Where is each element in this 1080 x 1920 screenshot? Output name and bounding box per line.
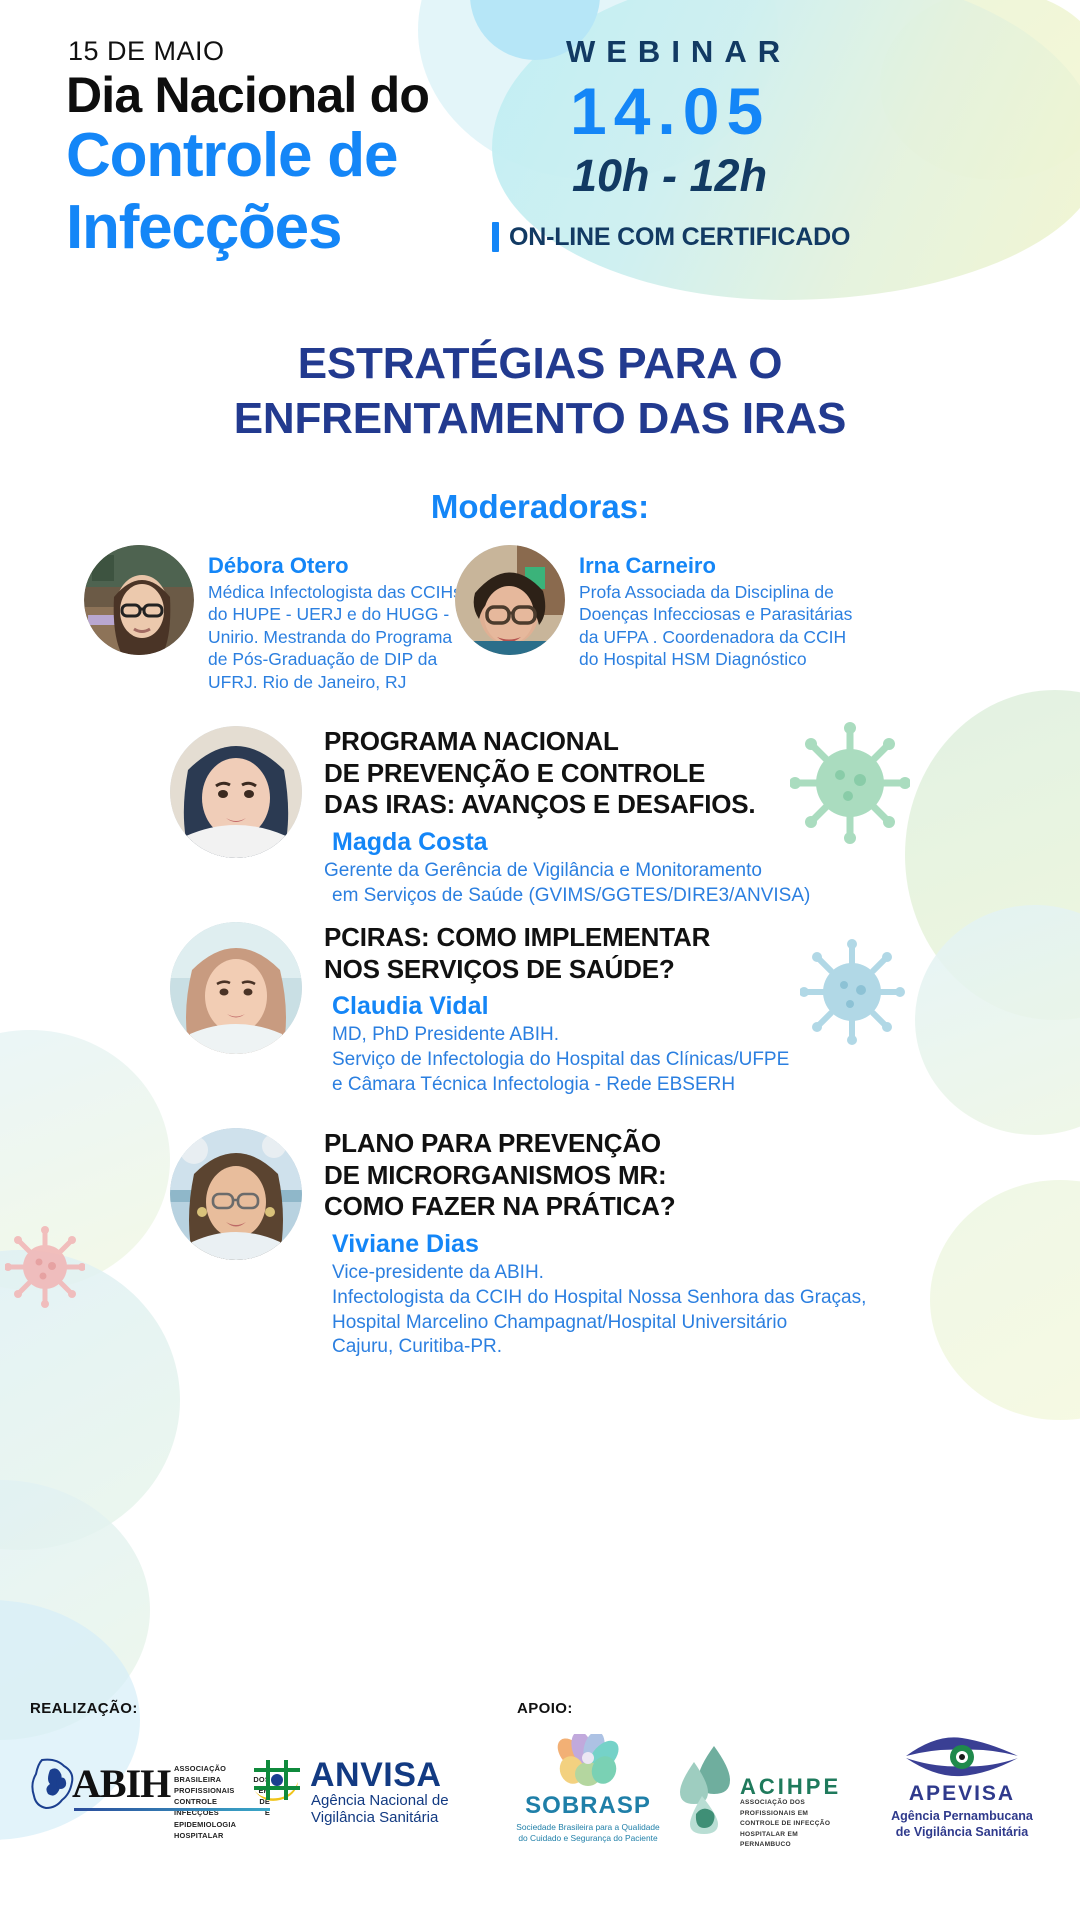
apevisa-logo: APEVISA Agência Pernambucana de Vigilânc… <box>872 1734 1052 1844</box>
event-date-kicker: 15 DE MAIO <box>68 36 225 67</box>
bio-line: Doenças Infecciosas e Parasitárias <box>579 603 852 625</box>
moderator-info: Débora Otero Médica Infectologista das C… <box>208 545 462 693</box>
moderator-bio: Médica Infectologista das CCIHs do HUPE … <box>208 581 462 693</box>
poster-title-line1: Dia Nacional do <box>66 66 429 124</box>
tagline-line: do Cuidado e Segurança do Paciente <box>508 1833 668 1844</box>
bio-line: Unirio. Mestranda do Programa <box>208 626 462 648</box>
session-card: PCIRAS: COMO IMPLEMENTAR NOS SERVIÇOS DE… <box>170 922 789 1098</box>
tagline-line: de Vigilância Sanitária <box>872 1824 1052 1840</box>
tagline-line: Agência Pernambucana <box>872 1808 1052 1824</box>
poster-canvas: 15 DE MAIO Dia Nacional do Controle de I… <box>0 0 1080 1920</box>
virus-icon <box>5 1222 85 1312</box>
bio-line: do Hospital HSM Diagnóstico <box>579 648 852 670</box>
webinar-label: WEBINAR <box>566 34 1026 70</box>
decorative-blob-right-3 <box>930 1180 1080 1420</box>
avatar <box>170 1128 302 1260</box>
moderator-card: Débora Otero Médica Infectologista das C… <box>84 545 462 693</box>
moderator-name: Irna Carneiro <box>579 553 852 579</box>
acihpe-acronym: ACIHPE <box>740 1774 841 1800</box>
avatar <box>84 545 194 655</box>
speaker-name: Claudia Vidal <box>332 992 789 1021</box>
session-info: PLANO PARA PREVENÇÃO DE MICRORGANISMOS M… <box>324 1128 866 1360</box>
anvisa-logo: ANVISA Agência Nacional de Vigilância Sa… <box>248 1754 478 1814</box>
anvisa-cross-icon <box>248 1756 304 1806</box>
apoio-label: APOIO: <box>517 1700 573 1717</box>
bio-line: Infectologista da CCIH do Hospital Nossa… <box>332 1286 866 1311</box>
bio-line: do HUPE - UERJ e do HUGG - <box>208 603 462 625</box>
sobrasp-flower-icon <box>542 1734 634 1790</box>
session-title: PLANO PARA PREVENÇÃO DE MICRORGANISMOS M… <box>324 1128 866 1223</box>
virus-icon <box>800 935 905 1050</box>
title-line: PROGRAMA NACIONAL <box>324 726 810 758</box>
tagline-line: Sociedade Brasileira para a Qualidade <box>508 1822 668 1833</box>
acihpe-tagline: ASSOCIAÇÃO DOS PROFISSIONAIS EM CONTROLE… <box>740 1798 844 1851</box>
anvisa-acronym: ANVISA <box>310 1756 441 1795</box>
accent-bar <box>492 222 499 252</box>
avatar <box>455 545 565 655</box>
avatar <box>170 726 302 858</box>
webinar-date: 14.05 <box>570 78 1030 144</box>
title-line: PCIRAS: COMO IMPLEMENTAR <box>324 922 789 954</box>
certificate-badge: ON-LINE COM CERTIFICADO <box>492 222 850 252</box>
bio-line: Vice-presidente da ABIH. <box>332 1261 866 1286</box>
bio-line: Médica Infectologista das CCIHs <box>208 581 462 603</box>
acihpe-droplet-icon <box>676 1740 738 1836</box>
main-heading-line1: ESTRATÉGIAS PARA O <box>0 336 1080 391</box>
realizacao-label: REALIZAÇÃO: <box>30 1700 138 1717</box>
session-card: PLANO PARA PREVENÇÃO DE MICRORGANISMOS M… <box>170 1128 866 1360</box>
moderator-info: Irna Carneiro Profa Associada da Discipl… <box>579 545 852 671</box>
bio-line: Profa Associada da Disciplina de <box>579 581 852 603</box>
speaker-name: Viviane Dias <box>332 1230 866 1259</box>
session-title: PCIRAS: COMO IMPLEMENTAR NOS SERVIÇOS DE… <box>324 922 789 985</box>
apevisa-acronym: APEVISA <box>872 1782 1052 1806</box>
poster-title-line3: Infecções <box>66 196 341 260</box>
bio-line: de Pós-Graduação de DIP da <box>208 648 462 670</box>
sobrasp-acronym: SOBRASP <box>508 1792 668 1820</box>
decorative-blob-left-1 <box>0 1030 170 1290</box>
webinar-time: 10h - 12h <box>572 150 992 202</box>
avatar <box>170 922 302 1054</box>
title-line: COMO FAZER NA PRÁTICA? <box>324 1191 866 1223</box>
decorative-blob-right-1 <box>905 690 1080 1020</box>
speaker-bio: Vice-presidente da ABIH. Infectologista … <box>332 1261 866 1360</box>
abih-rule <box>74 1808 270 1811</box>
sobrasp-tagline: Sociedade Brasileira para a Qualidade do… <box>508 1822 668 1845</box>
session-card: PROGRAMA NACIONAL DE PREVENÇÃO E CONTROL… <box>170 726 810 909</box>
moderator-name: Débora Otero <box>208 553 462 579</box>
apevisa-tagline: Agência Pernambucana de Vigilância Sanit… <box>872 1808 1052 1841</box>
bio-line: em Serviços de Saúde (GVIMS/GGTES/DIRE3/… <box>332 884 810 909</box>
bio-line: UFRJ. Rio de Janeiro, RJ <box>208 671 462 693</box>
decorative-blob-left-2 <box>0 1250 180 1550</box>
certificate-text: ON-LINE COM CERTIFICADO <box>509 223 850 252</box>
session-info: PROGRAMA NACIONAL DE PREVENÇÃO E CONTROL… <box>324 726 810 909</box>
bio-line: MD, PhD Presidente ABIH. <box>332 1023 789 1048</box>
bio-line: e Câmara Técnica Infectologia - Rede EBS… <box>332 1073 789 1098</box>
title-line: DE PREVENÇÃO E CONTROLE <box>324 758 810 790</box>
title-line: DAS IRAS: AVANÇOS E DESAFIOS. <box>324 789 810 821</box>
decorative-blob-right-2 <box>915 905 1080 1135</box>
main-heading-line2: ENFRENTAMENTO DAS IRAS <box>0 391 1080 446</box>
bio-line: Gerente da Gerência de Vigilância e Moni… <box>324 859 810 884</box>
speaker-name: Magda Costa <box>332 828 810 857</box>
poster-footer: REALIZAÇÃO: APOIO: ABIH ASSOCIAÇÃO BRASI… <box>0 1676 1080 1920</box>
sobrasp-logo: SOBRASP Sociedade Brasileira para a Qual… <box>508 1734 668 1844</box>
anvisa-tagline: Agência Nacional de Vigilância Sanitária <box>311 1792 478 1826</box>
bio-line: da UFPA . Coordenadora da CCIH <box>579 626 852 648</box>
bio-line: Serviço de Infectologia do Hospital das … <box>332 1048 789 1073</box>
title-line: NOS SERVIÇOS DE SAÚDE? <box>324 954 789 986</box>
poster-header: 15 DE MAIO Dia Nacional do Controle de I… <box>0 0 1080 300</box>
abih-acronym: ABIH <box>72 1760 170 1807</box>
speaker-bio: Gerente da Gerência de Vigilância e Moni… <box>324 859 810 908</box>
poster-title-line2: Controle de <box>66 124 397 188</box>
apevisa-eye-icon <box>902 1734 1022 1780</box>
moderator-bio: Profa Associada da Disciplina de Doenças… <box>579 581 852 671</box>
speaker-bio: MD, PhD Presidente ABIH. Serviço de Infe… <box>332 1023 789 1097</box>
bio-line: Hospital Marcelino Champagnat/Hospital U… <box>332 1311 866 1336</box>
moderators-label: Moderadoras: <box>0 488 1080 526</box>
bio-line: Cajuru, Curitiba-PR. <box>332 1335 866 1360</box>
title-line: DE MICRORGANISMOS MR: <box>324 1160 866 1192</box>
session-info: PCIRAS: COMO IMPLEMENTAR NOS SERVIÇOS DE… <box>324 922 789 1098</box>
moderator-card: Irna Carneiro Profa Associada da Discipl… <box>455 545 852 671</box>
session-title: PROGRAMA NACIONAL DE PREVENÇÃO E CONTROL… <box>324 726 810 821</box>
abih-logo: ABIH ASSOCIAÇÃO BRASILEIRA DOS PROFISSIO… <box>28 1754 268 1816</box>
main-heading: ESTRATÉGIAS PARA O ENFRENTAMENTO DAS IRA… <box>0 336 1080 446</box>
acihpe-logo: ACIHPE ASSOCIAÇÃO DOS PROFISSIONAIS EM C… <box>676 1734 846 1844</box>
title-line: PLANO PARA PREVENÇÃO <box>324 1128 866 1160</box>
